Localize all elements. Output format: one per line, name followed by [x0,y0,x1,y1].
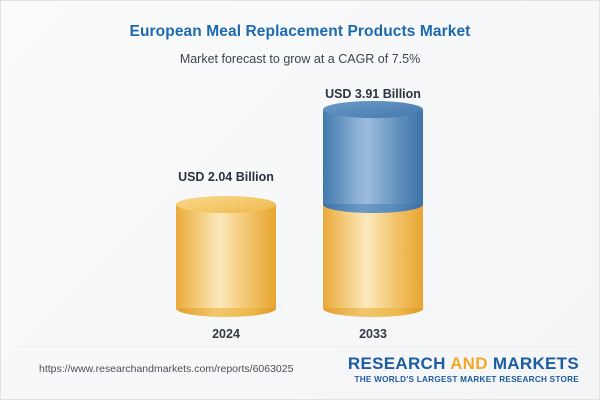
bar-segment-base [176,204,276,308]
cylinder-body [176,204,276,308]
page-title: European Meal Replacement Products Marke… [1,23,599,41]
cylinder-body [323,204,423,308]
chart-header: European Meal Replacement Products Marke… [1,1,599,66]
chart-plot-area: USD 2.04 Billion 2024 USD 3.91 Billion [1,81,600,336]
bar-value-label: USD 2.04 Billion [146,170,306,184]
bar-group-2033: USD 3.91 Billion 2033 [293,81,453,336]
cylinder-top-ellipse [323,101,423,118]
bar-segment-base [323,204,423,308]
category-label: 2033 [293,327,453,341]
chart-footer: https://www.researchandmarkets.com/repor… [1,347,600,400]
bar-value-label: USD 3.91 Billion [293,87,453,101]
logo-word-and: AND [446,354,493,373]
source-url[interactable]: https://www.researchandmarkets.com/repor… [39,363,293,375]
cylinder-body [323,109,423,204]
category-label: 2024 [146,327,306,341]
logo-wordmark: RESEARCH AND MARKETS [348,355,579,373]
logo-word-research: RESEARCH [348,354,446,373]
chart-subtitle: Market forecast to grow at a CAGR of 7.5… [1,52,599,66]
logo-tagline: THE WORLD'S LARGEST MARKET RESEARCH STOR… [348,375,579,384]
cylinder-top-ellipse [176,196,276,213]
bar-segment-growth [323,109,423,204]
chart-card: European Meal Replacement Products Marke… [0,0,600,400]
bar-group-2024: USD 2.04 Billion 2024 [146,81,306,336]
research-and-markets-logo[interactable]: RESEARCH AND MARKETS THE WORLD'S LARGEST… [348,355,579,384]
logo-word-markets: MARKETS [493,354,579,373]
